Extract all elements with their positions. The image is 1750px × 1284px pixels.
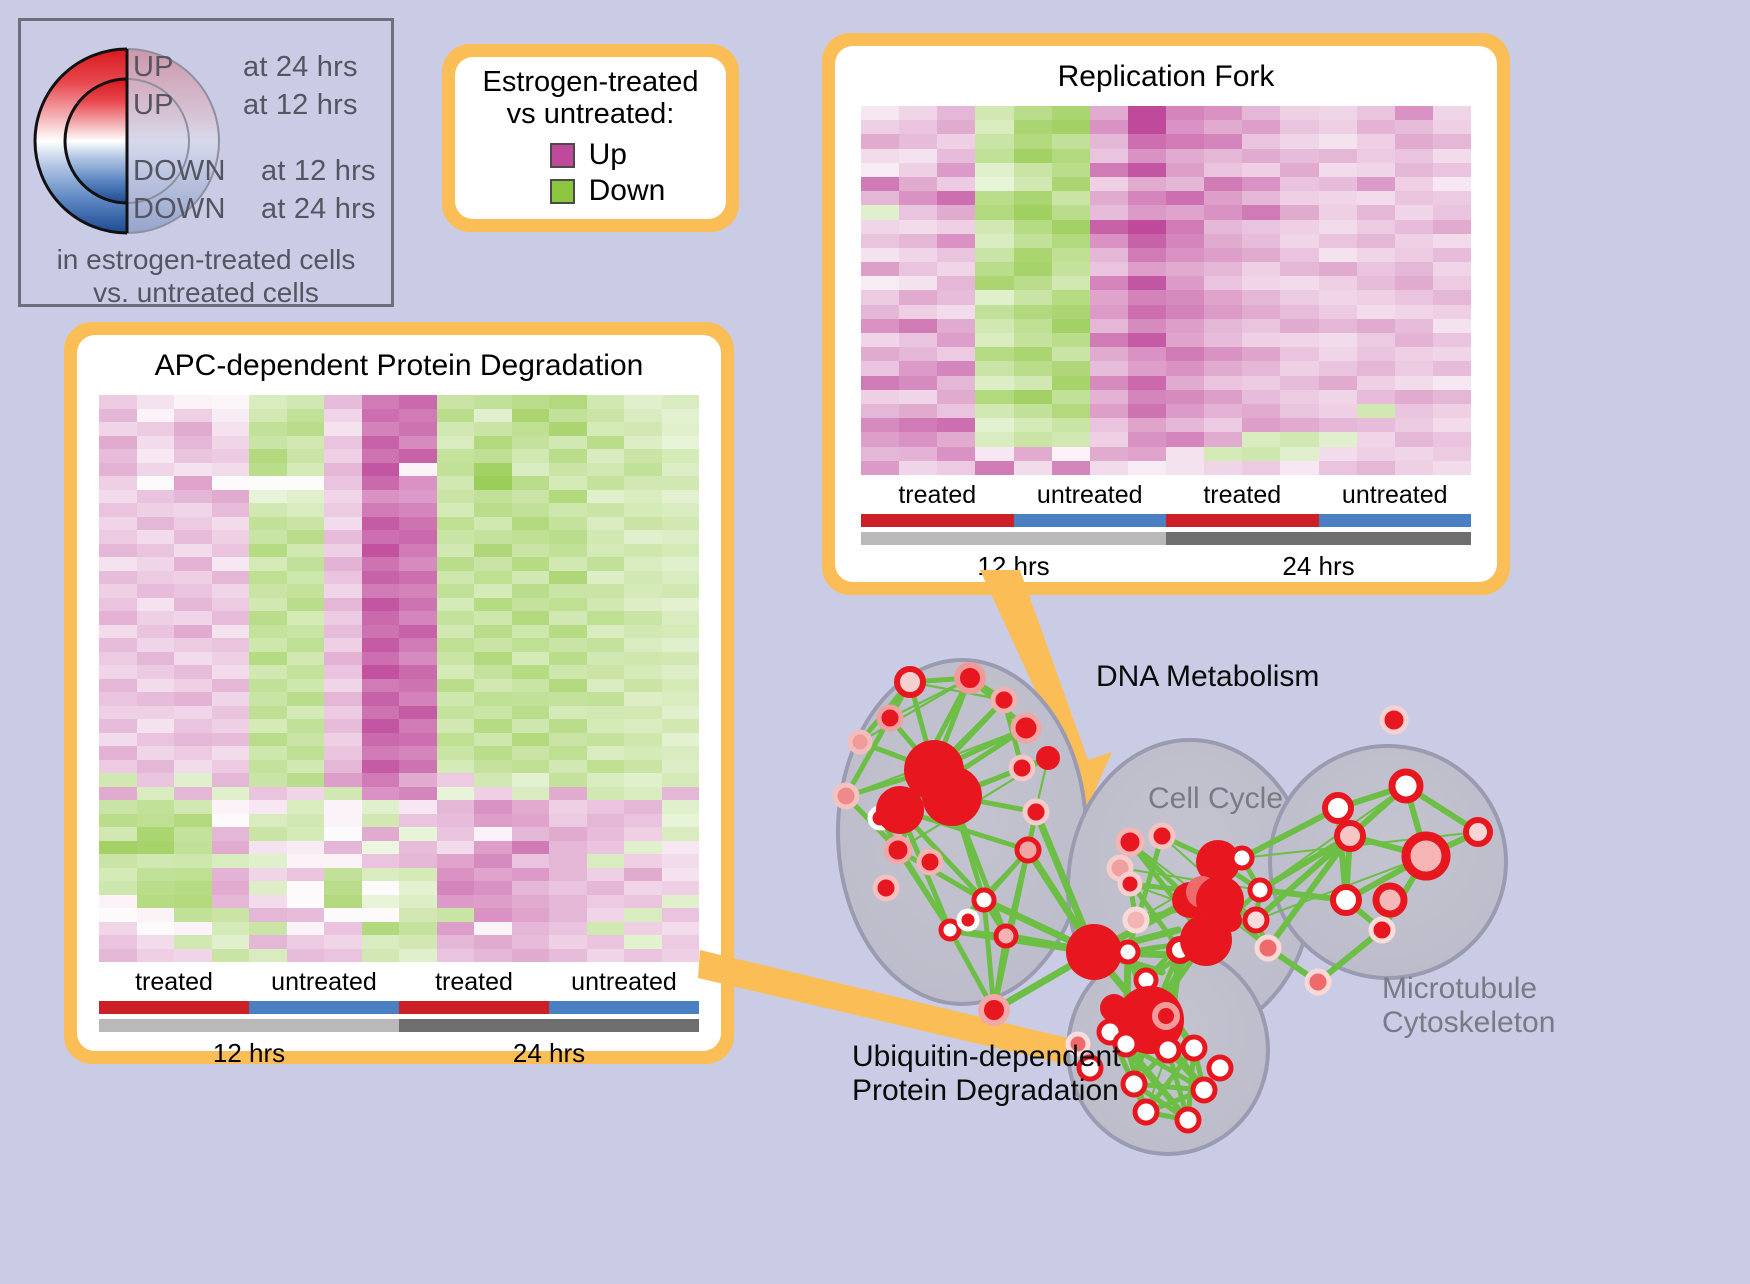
heatmap-cell — [99, 638, 137, 652]
heatmap-cell — [287, 638, 325, 652]
heatmap-cell — [174, 746, 212, 760]
heatmap-cell — [287, 706, 325, 720]
heatmap-cell — [587, 517, 625, 531]
heatmap-cell — [212, 854, 250, 868]
condition-labels-apc: treated untreated treated untreated — [99, 962, 699, 1001]
heatmap-cell — [324, 800, 362, 814]
heatmap-cell — [437, 949, 475, 963]
heatmap-cell — [624, 814, 662, 828]
heatmap-cell — [174, 652, 212, 666]
heatmap-cell — [975, 347, 1013, 361]
heatmap-cell — [587, 733, 625, 747]
heatmap-cell — [399, 692, 437, 706]
heatmap-cell — [1242, 220, 1280, 234]
heatmap-cell — [399, 598, 437, 612]
heatmap-cell — [212, 935, 250, 949]
heatmap-cell — [937, 432, 975, 446]
color-key-box: UP at 24 hrs UP at 12 hrs DOWN at 12 hrs… — [18, 18, 394, 307]
heatmap-cell — [624, 557, 662, 571]
heatmap-cell — [1204, 290, 1242, 304]
heatmap-cell — [437, 476, 475, 490]
heatmap-cell — [1395, 319, 1433, 333]
heatmap-cell — [99, 530, 137, 544]
heatmap-cell — [1128, 347, 1166, 361]
heatmap-cell — [249, 679, 287, 693]
heatmap-cell — [624, 706, 662, 720]
heatmap-cell — [937, 418, 975, 432]
heatmap-cell — [1242, 290, 1280, 304]
heatmap-cell — [512, 517, 550, 531]
heatmap-cell — [1433, 205, 1471, 219]
heatmap-cell — [174, 557, 212, 571]
heatmap-cell — [99, 490, 137, 504]
heatmap-cell — [549, 841, 587, 855]
heatmap-cell — [1090, 333, 1128, 347]
heatmap-cell — [624, 841, 662, 855]
heatmap-cell — [662, 449, 700, 463]
heatmap-cell — [174, 395, 212, 409]
heatmap-cell — [975, 319, 1013, 333]
heatmap-cell — [212, 706, 250, 720]
heatmap-cell — [587, 652, 625, 666]
heatmap-cell — [399, 463, 437, 477]
heatmap-cell — [362, 908, 400, 922]
heatmap-cell — [1242, 191, 1280, 205]
heatmap-cell — [1090, 361, 1128, 375]
heatmap-cell — [1166, 319, 1204, 333]
heatmap-cell — [437, 517, 475, 531]
condition-bar-rf-3 — [1319, 514, 1472, 527]
heatmap-cell — [624, 935, 662, 949]
heatmap-cell — [1052, 404, 1090, 418]
heatmap-cell — [249, 422, 287, 436]
legend-panel: Estrogen-treated vs untreated: Up Down — [442, 44, 739, 232]
heatmap-cell — [624, 544, 662, 558]
heatmap-cell — [975, 248, 1013, 262]
heatmap-cell — [362, 584, 400, 598]
heatmap-cell — [512, 692, 550, 706]
heatmap-cell — [212, 652, 250, 666]
heatmap-cell — [437, 449, 475, 463]
heatmap-cell — [1242, 461, 1280, 475]
heatmap-cell — [587, 611, 625, 625]
heatmap-cell — [399, 625, 437, 639]
heatmap-cell — [99, 773, 137, 787]
heatmap-cell — [1052, 177, 1090, 191]
heatmap-cell — [1014, 205, 1052, 219]
heatmap-cell — [174, 422, 212, 436]
heatmap-cell — [624, 449, 662, 463]
heatmap-cell — [174, 679, 212, 693]
heatmap-cell — [249, 908, 287, 922]
heatmap-cell — [1319, 177, 1357, 191]
heatmap-cell — [474, 638, 512, 652]
heatmap-cell — [587, 571, 625, 585]
heatmap-cell — [99, 517, 137, 531]
heatmap-cell — [937, 390, 975, 404]
color-key-ring-time-3: at 24 hrs — [261, 193, 376, 226]
heatmap-cell — [624, 895, 662, 909]
heatmap-cell — [662, 719, 700, 733]
panel-apc-degradation: APC-dependent Protein Degradation treate… — [64, 322, 734, 1064]
heatmap-cell — [399, 868, 437, 882]
heatmap-cell — [1128, 177, 1166, 191]
heatmap-cell — [174, 881, 212, 895]
heatmap-cell — [1242, 333, 1280, 347]
cluster-label-cell-cycle: Cell Cycle — [1148, 782, 1283, 816]
time-labels-apc: 12 hrs 24 hrs — [99, 1032, 699, 1069]
heatmap-cell — [1204, 106, 1242, 120]
heatmap-cell — [174, 530, 212, 544]
heatmap-cell — [362, 895, 400, 909]
heatmap-cell — [1433, 106, 1471, 120]
heatmap-cell — [474, 868, 512, 882]
heatmap-cell — [474, 530, 512, 544]
heatmap-cell — [249, 868, 287, 882]
heatmap-cell — [975, 205, 1013, 219]
heatmap-cell — [1052, 390, 1090, 404]
heatmap-cell — [1128, 333, 1166, 347]
heatmap-cell — [99, 841, 137, 855]
heatmap-cell — [549, 436, 587, 450]
heatmap-cell — [1433, 376, 1471, 390]
heatmap-cell — [1280, 404, 1318, 418]
heatmap-cell — [587, 881, 625, 895]
heatmap-cell — [362, 449, 400, 463]
heatmap-cell — [1090, 134, 1128, 148]
heatmap-cell — [99, 949, 137, 963]
heatmap-cell — [399, 841, 437, 855]
heatmap-cell — [287, 746, 325, 760]
heatmap-cell — [99, 746, 137, 760]
heatmap-cell — [975, 361, 1013, 375]
heatmap-cell — [1166, 234, 1204, 248]
heatmap-cell — [249, 652, 287, 666]
heatmap-cell — [174, 476, 212, 490]
heatmap-cell — [437, 584, 475, 598]
heatmap-cell — [899, 234, 937, 248]
heatmap-cell — [1090, 390, 1128, 404]
heatmap-cell — [861, 163, 899, 177]
legend-label-down: Down — [589, 174, 666, 208]
heatmap-cell — [399, 476, 437, 490]
heatmap-cell — [512, 814, 550, 828]
heatmap-cell — [137, 922, 175, 936]
heatmap-cell — [1014, 163, 1052, 177]
heatmap-cell — [1319, 390, 1357, 404]
heatmap-cell — [899, 447, 937, 461]
heatmap-cell — [662, 679, 700, 693]
heatmap-cell — [1242, 376, 1280, 390]
heatmap-cell — [512, 706, 550, 720]
heatmap-cell — [362, 841, 400, 855]
heatmap-cell — [287, 409, 325, 423]
heatmap-cell — [587, 490, 625, 504]
heatmap-cell — [1433, 461, 1471, 475]
network-graph-svg — [790, 600, 1750, 1279]
heatmap-cell — [1242, 177, 1280, 191]
heatmap-cell — [249, 598, 287, 612]
heatmap-cell — [362, 814, 400, 828]
heatmap-cell — [587, 395, 625, 409]
heatmap-cell — [399, 881, 437, 895]
heatmap-cell — [662, 530, 700, 544]
heatmap-cell — [899, 376, 937, 390]
heatmap-cell — [1014, 361, 1052, 375]
condition-label-rf-2: treated — [1166, 475, 1319, 514]
heatmap-cell — [861, 319, 899, 333]
heatmap-cell — [399, 746, 437, 760]
heatmap-cell — [437, 571, 475, 585]
heatmap-cell — [662, 665, 700, 679]
heatmap-cell — [362, 652, 400, 666]
heatmap-cell — [1204, 347, 1242, 361]
heatmap-cell — [399, 611, 437, 625]
heatmap-cell — [99, 476, 137, 490]
heatmap-cell — [99, 922, 137, 936]
heatmap-cell — [362, 922, 400, 936]
heatmap-cell — [512, 868, 550, 882]
condition-bars-rf — [861, 514, 1471, 527]
heatmap-cell — [587, 787, 625, 801]
heatmap-cell — [324, 395, 362, 409]
heatmap-cell — [249, 949, 287, 963]
cluster-label-microtubule-line1: Microtubule — [1382, 972, 1555, 1006]
heatmap-cell — [362, 787, 400, 801]
heatmap-cell — [1166, 432, 1204, 446]
heatmap-cell — [474, 935, 512, 949]
heatmap-cell — [1128, 305, 1166, 319]
heatmap-cell — [861, 234, 899, 248]
heatmap-cell — [99, 436, 137, 450]
heatmap-cell — [324, 611, 362, 625]
heatmap-cell — [1357, 191, 1395, 205]
heatmap-cell — [1319, 106, 1357, 120]
heatmap-cell — [99, 665, 137, 679]
heatmap-cell — [474, 719, 512, 733]
heatmap-cell — [174, 544, 212, 558]
heatmap-cell — [324, 908, 362, 922]
heatmap-cell — [624, 476, 662, 490]
heatmap-cell — [587, 449, 625, 463]
heatmap-cell — [324, 436, 362, 450]
heatmap-cell — [474, 814, 512, 828]
heatmap-cell — [362, 949, 400, 963]
heatmap-cell — [362, 773, 400, 787]
heatmap-cell — [1357, 234, 1395, 248]
heatmap-cell — [212, 449, 250, 463]
heatmap-cell — [399, 571, 437, 585]
heatmap-cell — [1433, 134, 1471, 148]
heatmap-cell — [362, 530, 400, 544]
heatmap-cell — [1242, 234, 1280, 248]
heatmap-cell — [99, 733, 137, 747]
heatmap-cell — [212, 773, 250, 787]
heatmap-cell — [1166, 120, 1204, 134]
heatmap-cell — [1014, 262, 1052, 276]
heatmap-cell — [587, 908, 625, 922]
heatmap-cell — [1166, 106, 1204, 120]
heatmap-cell — [861, 149, 899, 163]
heatmap-cell — [512, 881, 550, 895]
heatmap-cell — [1433, 120, 1471, 134]
heatmap-cell — [1052, 120, 1090, 134]
heatmap-cell — [324, 449, 362, 463]
heatmap-cell — [137, 638, 175, 652]
heatmap-cell — [324, 746, 362, 760]
heatmap-cell — [899, 205, 937, 219]
heatmap-cell — [474, 922, 512, 936]
heatmap-cell — [549, 881, 587, 895]
heatmap-cell — [937, 191, 975, 205]
heatmap-cell — [437, 800, 475, 814]
heatmap-cell — [1433, 149, 1471, 163]
heatmap-cell — [1395, 205, 1433, 219]
heatmap-cell — [662, 476, 700, 490]
heatmap-cell — [1052, 376, 1090, 390]
heatmap-cell — [1280, 191, 1318, 205]
heatmap-cell — [861, 404, 899, 418]
heatmap-cell — [899, 106, 937, 120]
heatmap-cell — [212, 503, 250, 517]
heatmap-cell — [287, 530, 325, 544]
heatmap-cell — [399, 733, 437, 747]
heatmap-cell — [1204, 432, 1242, 446]
heatmap-cell — [1433, 191, 1471, 205]
heatmap-cell — [1090, 305, 1128, 319]
heatmap-cell — [287, 436, 325, 450]
heatmap-cell — [861, 120, 899, 134]
heatmap-cell — [975, 404, 1013, 418]
heatmap-cell — [174, 814, 212, 828]
heatmap-cell — [249, 571, 287, 585]
heatmap-cell — [287, 814, 325, 828]
condition-bar-apc-0 — [99, 1001, 249, 1014]
heatmap-cell — [1357, 347, 1395, 361]
heatmap-cell — [362, 868, 400, 882]
heatmap-cell — [474, 706, 512, 720]
heatmap-cell — [174, 760, 212, 774]
heatmap-cell — [512, 908, 550, 922]
heatmap-cell — [212, 922, 250, 936]
heatmap-cell — [587, 719, 625, 733]
heatmap-cell — [137, 881, 175, 895]
condition-label-rf-1: untreated — [1014, 475, 1167, 514]
heatmap-cell — [1014, 390, 1052, 404]
heatmap-cell — [512, 719, 550, 733]
heatmap-cell — [1395, 163, 1433, 177]
heatmap-cell — [174, 773, 212, 787]
heatmap-cell — [362, 476, 400, 490]
heatmap-cell — [899, 461, 937, 475]
heatmap-cell — [549, 503, 587, 517]
heatmap-cell — [975, 220, 1013, 234]
heatmap-apc — [99, 395, 699, 962]
heatmap-cell — [174, 449, 212, 463]
heatmap-cell — [662, 652, 700, 666]
heatmap-cell — [624, 665, 662, 679]
heatmap-cell — [1014, 447, 1052, 461]
heatmap-cell — [137, 773, 175, 787]
heatmap-cell — [437, 530, 475, 544]
heatmap-cell — [362, 827, 400, 841]
heatmap-cell — [662, 868, 700, 882]
heatmap-cell — [99, 827, 137, 841]
heatmap-cell — [1395, 134, 1433, 148]
heatmap-cell — [1242, 163, 1280, 177]
heatmap-cell — [1242, 319, 1280, 333]
legend-title-line2: vs untreated: — [482, 98, 698, 130]
heatmap-cell — [861, 191, 899, 205]
heatmap-cell — [174, 854, 212, 868]
heatmap-cell — [662, 773, 700, 787]
heatmap-cell — [249, 530, 287, 544]
heatmap-cell — [362, 625, 400, 639]
heatmap-cell — [399, 949, 437, 963]
heatmap-cell — [399, 760, 437, 774]
heatmap-cell — [512, 557, 550, 571]
heatmap-cell — [1014, 234, 1052, 248]
condition-bar-apc-3 — [549, 1001, 699, 1014]
heatmap-cell — [1166, 461, 1204, 475]
heatmap-cell — [362, 517, 400, 531]
heatmap-cell — [474, 476, 512, 490]
heatmap-cell — [324, 881, 362, 895]
heatmap-cell — [324, 652, 362, 666]
heatmap-cell — [399, 449, 437, 463]
heatmap-cell — [287, 841, 325, 855]
heatmap-cell — [1052, 418, 1090, 432]
heatmap-cell — [1433, 390, 1471, 404]
heatmap-cell — [324, 922, 362, 936]
heatmap-cell — [287, 787, 325, 801]
heatmap-cell — [975, 149, 1013, 163]
heatmap-cell — [1090, 220, 1128, 234]
heatmap-cell — [399, 719, 437, 733]
heatmap-cell — [1052, 276, 1090, 290]
heatmap-cell — [1280, 361, 1318, 375]
heatmap-cell — [512, 625, 550, 639]
heatmap-cell — [287, 517, 325, 531]
heatmap-cell — [137, 490, 175, 504]
time-labels-rf: 12 hrs 24 hrs — [861, 545, 1471, 582]
heatmap-cell — [362, 706, 400, 720]
heatmap-cell — [1280, 447, 1318, 461]
heatmap-cell — [587, 557, 625, 571]
heatmap-cell — [1166, 276, 1204, 290]
heatmap-cell — [1166, 248, 1204, 262]
heatmap-cell — [1395, 361, 1433, 375]
condition-bar-apc-2 — [399, 1001, 549, 1014]
heatmap-cell — [137, 422, 175, 436]
heatmap-cell — [624, 625, 662, 639]
heatmap-cell — [287, 922, 325, 936]
heatmap-cell — [512, 854, 550, 868]
heatmap-cell — [99, 652, 137, 666]
heatmap-cell — [212, 517, 250, 531]
heatmap-cell — [624, 598, 662, 612]
heatmap-cell — [624, 949, 662, 963]
heatmap-cell — [399, 503, 437, 517]
heatmap-cell — [212, 544, 250, 558]
heatmap-cell — [549, 530, 587, 544]
heatmap-cell — [624, 760, 662, 774]
heatmap-cell — [587, 476, 625, 490]
heatmap-cell — [99, 881, 137, 895]
condition-label-apc-2: treated — [399, 962, 549, 1001]
heatmap-cell — [99, 760, 137, 774]
heatmap-cell — [975, 461, 1013, 475]
